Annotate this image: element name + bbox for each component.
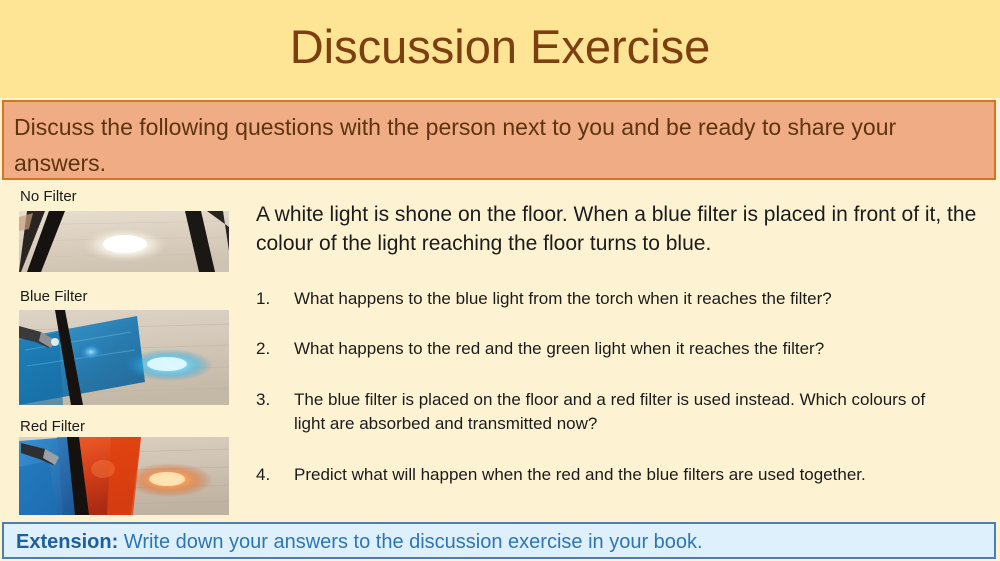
question-item-2: 2. What happens to the red and the green… [256, 337, 972, 361]
photo-red-filter [19, 437, 229, 515]
photo-label-no-filter: No Filter [20, 188, 77, 206]
extension-body: Write down your answers to the discussio… [118, 531, 702, 553]
red-filter-image [19, 437, 229, 515]
blue-filter-image [19, 310, 229, 405]
instruction-box: Discuss the following questions with the… [2, 100, 996, 180]
question-text-4: Predict what will happen when the red an… [294, 463, 972, 487]
question-text-3: The blue filter is placed on the floor a… [294, 388, 936, 436]
question-item-1: 1. What happens to the blue light from t… [256, 287, 972, 311]
question-text-1: What happens to the blue light from the … [294, 287, 972, 311]
extension-text: Extension: Write down your answers to th… [16, 528, 703, 556]
photo-label-red-filter: Red Filter [20, 418, 85, 436]
question-item-4: 4. Predict what will happen when the red… [256, 463, 972, 487]
photo-no-filter [19, 211, 229, 272]
slide: Discussion Exercise Discuss the followin… [0, 0, 1000, 561]
no-filter-image [19, 211, 229, 272]
photo-label-blue-filter: Blue Filter [20, 288, 88, 306]
extension-box: Extension: Write down your answers to th… [2, 522, 996, 559]
question-item-3: 3. The blue filter is placed on the floo… [256, 388, 936, 436]
page-title: Discussion Exercise [0, 14, 1000, 80]
question-text-2: What happens to the red and the green li… [294, 337, 972, 361]
intro-paragraph: A white light is shone on the floor. Whe… [256, 200, 978, 258]
question-number-3: 3. [256, 388, 284, 412]
question-number-1: 1. [256, 287, 284, 311]
instruction-text: Discuss the following questions with the… [14, 109, 984, 181]
question-number-2: 2. [256, 337, 284, 361]
extension-label: Extension: [16, 531, 118, 553]
question-number-4: 4. [256, 463, 284, 487]
photo-blue-filter [19, 310, 229, 405]
